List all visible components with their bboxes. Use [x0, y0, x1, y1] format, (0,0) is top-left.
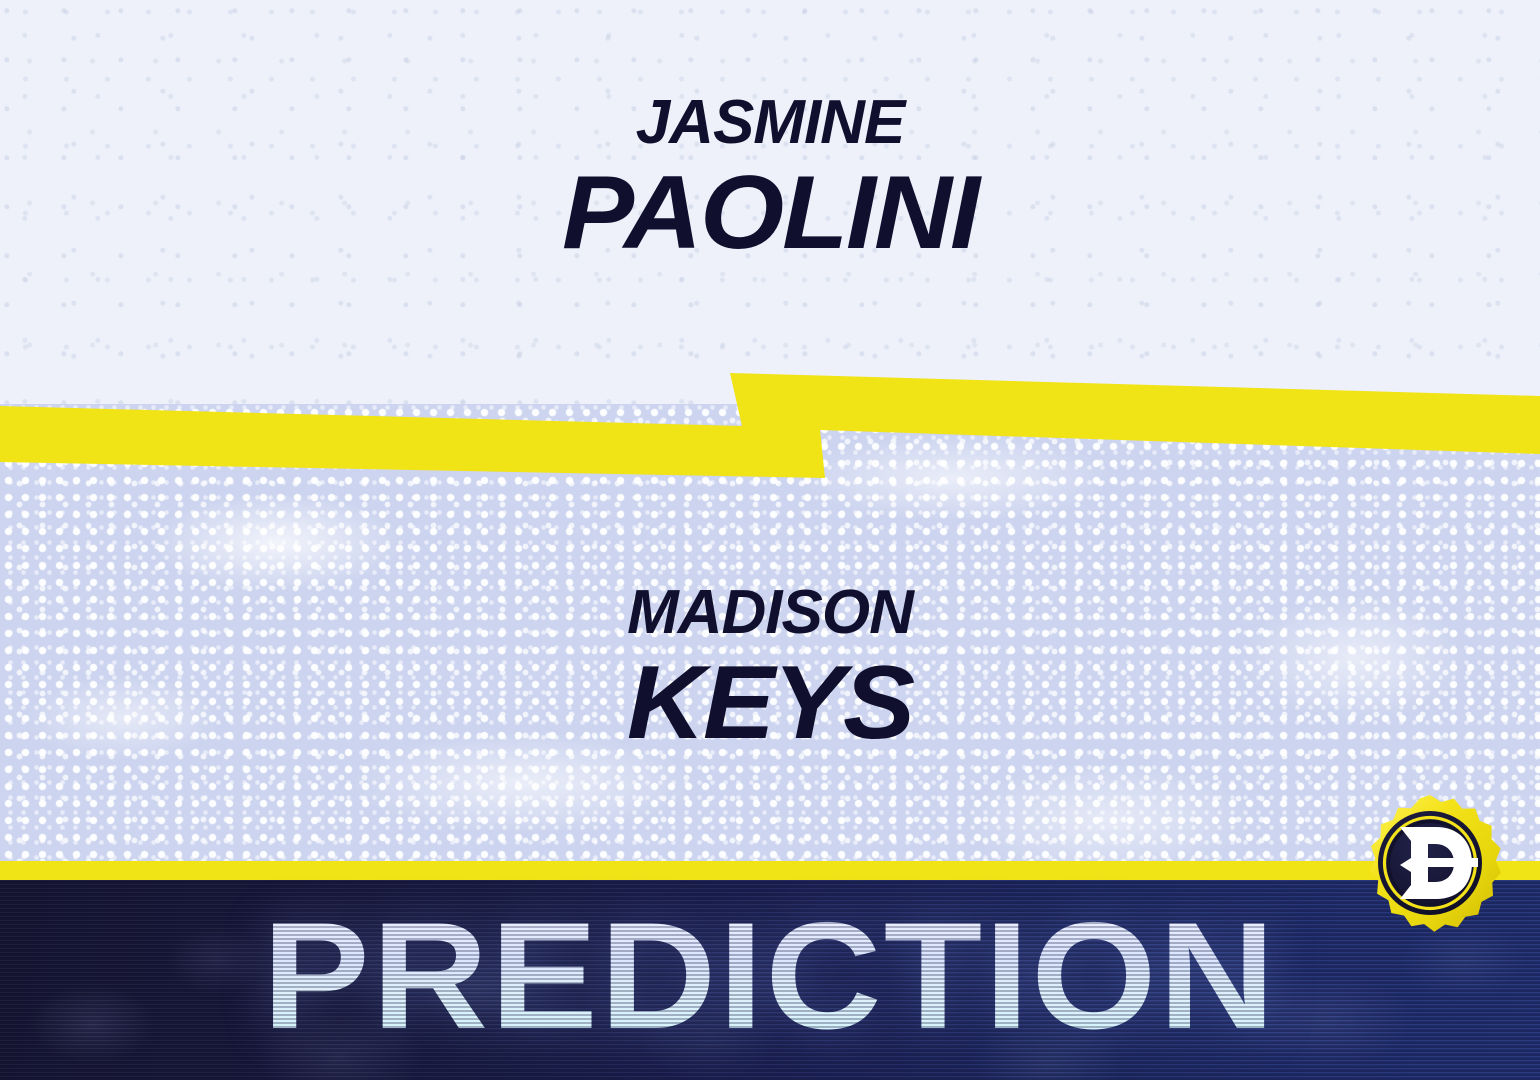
- player-one-name-block: JASMINE PAOLINI: [0, 88, 1540, 268]
- player-one-first-name: JASMINE: [0, 88, 1540, 158]
- footer-band: [0, 880, 1540, 1080]
- player-two-last-name: KEYS: [0, 648, 1540, 758]
- player-one-last-name: PAOLINI: [0, 158, 1540, 268]
- yellow-divider-rule: [0, 861, 1540, 880]
- player-two-name-block: MADISON KEYS: [0, 578, 1540, 758]
- player-two-first-name: MADISON: [0, 578, 1540, 648]
- prediction-graphic: JASMINE PAOLINI MADISON KEYS PREDICTION: [0, 0, 1540, 1080]
- brand-logo-badge[interactable]: [1356, 794, 1504, 942]
